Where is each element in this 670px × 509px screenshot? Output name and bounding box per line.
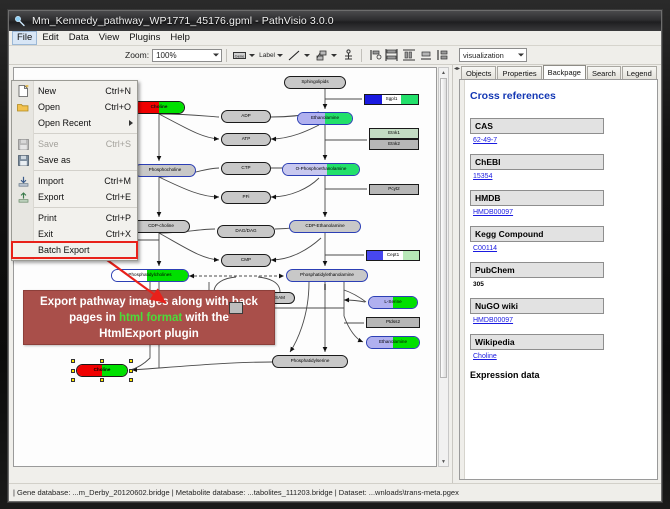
file-menu-separator-3 (34, 207, 137, 208)
file-menu-accel: Ctrl+O (105, 102, 137, 112)
node-adp[interactable]: ADP (221, 110, 271, 123)
xref-label: Wikipedia (470, 334, 604, 350)
menu-edit[interactable]: Edit (37, 31, 63, 45)
node-ethanolamine-top[interactable]: Ethanolamine (297, 112, 353, 125)
datanode-dropdown-icon[interactable] (249, 54, 255, 57)
node-etnk2[interactable]: Etnk2 (369, 139, 419, 150)
line-dropdown-icon[interactable] (304, 54, 310, 57)
tab-objects[interactable]: Objects (461, 66, 496, 79)
chevron-down-icon (213, 54, 219, 57)
callout-line1: Export pathway images along with back (40, 296, 258, 308)
file-menu-item-open-recent[interactable]: Open Recent (12, 115, 137, 131)
file-menu-label: Import (34, 176, 104, 186)
xref-value-link[interactable]: C00114 (473, 245, 649, 252)
app-icon (14, 15, 27, 28)
xref-label: PubChem (470, 262, 604, 278)
xref-label: CAS (470, 118, 604, 134)
selection-handles[interactable] (71, 359, 133, 382)
cross-references-heading: Cross references (470, 90, 649, 102)
xref-label: ChEBI (470, 154, 604, 170)
xref-cas: CAS 62-49-7 (470, 118, 649, 144)
annotation-callout: Export pathway images along with back pa… (23, 290, 275, 345)
node-cdp-ethanolamine[interactable]: CDP-Ethanolamine (289, 220, 361, 233)
xref-value-link[interactable]: 15354 (473, 173, 649, 180)
file-menu-accel: Ctrl+P (106, 213, 137, 223)
statusbar-text: | Gene database: ...m_Derby_20120602.bri… (13, 488, 459, 497)
side-panel-tabstrip: ◂▸ Objects Properties Backpage Search Le… (453, 65, 661, 79)
file-menu-label: Batch Export (34, 245, 137, 255)
expression-data-heading: Expression data (470, 370, 649, 380)
submenu-arrow-icon (129, 120, 133, 126)
xref-hmdb: HMDB HMDB00097 (470, 190, 649, 216)
toolbar: Zoom: 100% Gene Label (9, 46, 661, 65)
align-columns-tool-icon[interactable] (401, 48, 416, 63)
datanode-tool-icon[interactable]: Gene (232, 48, 247, 63)
file-menu-label: Print (34, 213, 106, 223)
file-menu-accel: Ctrl+X (106, 229, 137, 239)
node-ptdss2[interactable]: Ptdss2 (366, 317, 420, 328)
node-ethanolamine-bottom[interactable]: Ethanolamine (366, 336, 420, 349)
file-menu-label: Exit (34, 229, 106, 239)
node-o-phosphoethanolamine[interactable]: O-Phosphoethanolamine (282, 163, 360, 176)
file-menu-popup[interactable]: New Ctrl+N Open Ctrl+O Open Recent (11, 80, 138, 261)
canvas-vertical-scrollbar[interactable]: ▲ ▼ (438, 67, 449, 467)
node-l-serine[interactable]: L-Serine (368, 296, 418, 309)
anchor-tool-icon[interactable] (341, 48, 356, 63)
zoom-label: Zoom: (125, 50, 149, 60)
file-menu-item-save[interactable]: Save Ctrl+S (12, 136, 137, 152)
toolbar-separator-2 (361, 49, 362, 62)
node-pfi[interactable]: PFi (221, 191, 271, 204)
file-menu-accel: Ctrl+E (106, 192, 137, 202)
same-height-tool-icon[interactable] (435, 48, 450, 63)
scroll-up-icon[interactable]: ▲ (439, 68, 448, 77)
node-phosphatidylethanolamine[interactable]: Phosphatidylethanolamine (286, 269, 368, 282)
node-ctp[interactable]: CTP (221, 162, 271, 175)
callout-line2-before: pages in (69, 312, 119, 324)
svg-text:Gene: Gene (235, 53, 246, 58)
side-panel: ◂▸ Objects Properties Backpage Search Le… (452, 65, 661, 483)
tab-backpage[interactable]: Backpage (543, 65, 586, 79)
toolbar-separator (226, 49, 227, 62)
menu-plugins[interactable]: Plugins (124, 31, 165, 45)
xref-nugo-wiki: NuGO wiki HMDB00097 (470, 298, 649, 324)
node-cdp-choline[interactable]: CDP-choline (132, 220, 190, 233)
tab-properties[interactable]: Properties (497, 66, 541, 79)
file-menu-label: Open Recent (34, 118, 137, 128)
xref-chebi: ChEBI 15354 (470, 154, 649, 180)
menu-help[interactable]: Help (165, 31, 195, 45)
file-menu-accel: Ctrl+M (104, 176, 137, 186)
menu-view[interactable]: View (94, 31, 124, 45)
backpage-left-gutter (460, 80, 465, 479)
file-menu-item-import[interactable]: Import Ctrl+M (12, 173, 137, 189)
node-phosphatidylcholines[interactable]: Phosphatidylcholines (111, 269, 189, 282)
export-icon (12, 192, 34, 203)
file-menu-separator (34, 133, 137, 134)
file-menu-item-save-as[interactable]: Save as (12, 152, 137, 168)
callout-highlight: html format (119, 312, 182, 324)
node-cmp[interactable]: CMP (221, 254, 271, 267)
zoom-combobox[interactable]: 100% (152, 49, 222, 62)
file-menu-accel: Ctrl+S (106, 139, 137, 149)
file-menu-item-export[interactable]: Export Ctrl+E (12, 189, 137, 205)
node-phosphatidylserine[interactable]: Phosphatidylserine (272, 355, 348, 368)
tab-legend[interactable]: Legend (622, 66, 657, 79)
xref-label: Kegg Compound (470, 226, 604, 242)
node-cept1[interactable]: Cept1 (366, 250, 420, 261)
align-left-tool-icon[interactable] (367, 48, 382, 63)
menu-file[interactable]: File (12, 31, 37, 45)
xref-value-link[interactable]: HMDB00097 (473, 209, 649, 216)
align-center-tool-icon[interactable] (384, 48, 399, 63)
chevron-down-icon-2 (518, 54, 524, 57)
file-menu-label: Export (34, 192, 106, 202)
file-menu-label: Save (34, 139, 106, 149)
node-sgpl1[interactable]: Sgpl1 (364, 94, 419, 105)
xref-wikipedia: Wikipedia Choline (470, 334, 649, 360)
file-menu-label: New (34, 86, 105, 96)
window-title: Mm_Kennedy_pathway_WP1771_45176.gpml - P… (32, 15, 334, 27)
file-menu-label: Open (34, 102, 105, 112)
visualization-combobox[interactable]: visualization (459, 48, 527, 62)
shape-tool-icon[interactable] (314, 48, 329, 63)
visualization-value: visualization (463, 51, 504, 60)
tab-search[interactable]: Search (587, 66, 621, 79)
label-dropdown-icon[interactable] (277, 54, 283, 57)
file-menu-item-batch-export[interactable]: Batch Export (12, 242, 137, 258)
node-phosphocholine[interactable]: Phosphocholine (134, 164, 196, 177)
xref-value-link[interactable]: HMDB00097 (473, 317, 649, 324)
line-tool-icon[interactable] (287, 48, 302, 63)
menubar: File Edit Data View Plugins Help (9, 31, 661, 46)
file-menu-item-exit[interactable]: Exit Ctrl+X (12, 226, 137, 242)
tab-overflow-icon[interactable]: ◂▸ (454, 67, 460, 72)
xref-pubchem: PubChem 305 (470, 262, 649, 288)
scroll-down-icon[interactable]: ▼ (439, 457, 448, 466)
same-width-tool-icon[interactable] (418, 48, 433, 63)
node-atp[interactable]: ATP (221, 133, 271, 146)
backpage-content[interactable]: Cross references CAS 62-49-7 ChEBI 15354… (459, 79, 658, 480)
file-menu-item-new[interactable]: New Ctrl+N (12, 83, 137, 99)
xref-label: NuGO wiki (470, 298, 604, 314)
node-etnk1[interactable]: Etnk1 (369, 128, 419, 139)
xref-value-link[interactable]: 62-49-7 (473, 137, 649, 144)
zoom-value: 100% (156, 51, 176, 60)
xref-label: HMDB (470, 190, 604, 206)
side-panel-right-edge (658, 65, 661, 483)
menu-data[interactable]: Data (64, 31, 94, 45)
save-disk-icon (12, 139, 34, 150)
statusbar: | Gene database: ...m_Derby_20120602.bri… (9, 483, 661, 501)
pathway-anchor-box[interactable] (229, 302, 243, 314)
shape-dropdown-icon[interactable] (331, 54, 337, 57)
pathvisio-application-window: Mm_Kennedy_pathway_WP1771_45176.gpml - P… (8, 10, 662, 502)
save-as-icon (12, 155, 34, 166)
node-pcyt2[interactable]: Pcyt2 (369, 184, 419, 195)
label-tool-label[interactable]: Label (259, 52, 275, 59)
node-dag[interactable]: DAG/DAG (217, 225, 275, 238)
scrollbar-thumb[interactable] (440, 78, 447, 378)
callout-line2-after: with the (182, 312, 229, 324)
file-menu-separator-2 (34, 170, 137, 171)
import-icon (12, 176, 34, 187)
window-titlebar: Mm_Kennedy_pathway_WP1771_45176.gpml - P… (9, 11, 661, 31)
new-document-icon (12, 85, 34, 97)
node-sphingolipids[interactable]: Sphingolipids (284, 76, 346, 89)
folder-open-icon (12, 102, 34, 112)
xref-kegg-compound: Kegg Compound C00114 (470, 226, 649, 252)
xref-value-text: 305 (473, 281, 649, 288)
callout-line3: HtmlExport plugin (99, 328, 199, 340)
node-choline-top[interactable]: Choline (133, 101, 185, 114)
file-menu-item-open[interactable]: Open Ctrl+O (12, 99, 137, 115)
file-menu-label: Save as (34, 155, 131, 165)
file-menu-accel: Ctrl+N (105, 86, 137, 96)
file-menu-item-print[interactable]: Print Ctrl+P (12, 210, 137, 226)
xref-value-link[interactable]: Choline (473, 353, 649, 360)
